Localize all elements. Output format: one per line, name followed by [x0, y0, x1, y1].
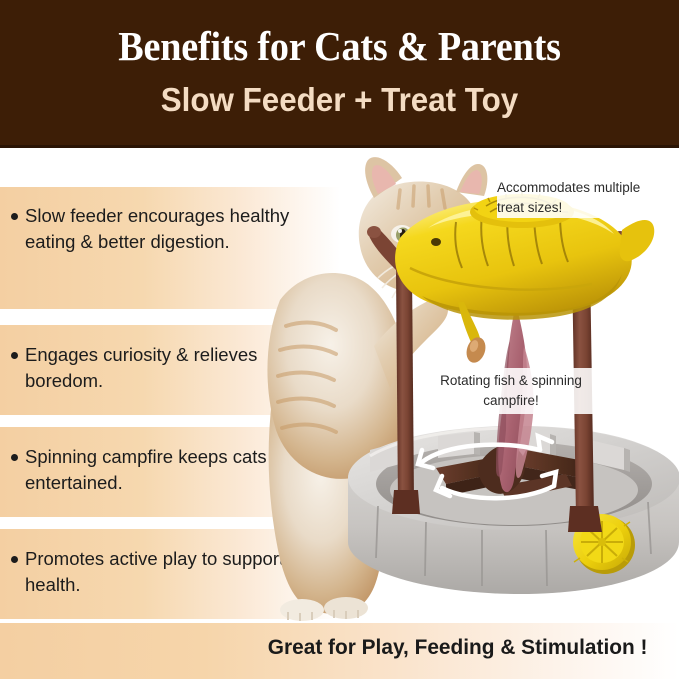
- infographic-root: Benefits for Cats & Parents Slow Feeder …: [0, 0, 679, 679]
- bullet-marker: [11, 352, 18, 359]
- page-title: Benefits for Cats & Parents: [24, 22, 655, 70]
- bullet-marker: [11, 556, 18, 563]
- header-banner: Benefits for Cats & Parents Slow Feeder …: [0, 0, 679, 148]
- bullet-marker: [11, 454, 18, 461]
- page-subtitle: Slow Feeder + Treat Toy: [17, 80, 662, 120]
- footer-banner: Great for Play, Feeding & Stimulation !: [0, 623, 679, 679]
- callout-rotating-fish: Rotating fish & spinning campfire!: [423, 368, 599, 414]
- bullet-marker: [11, 213, 18, 220]
- footer-tagline: Great for Play, Feeding & Stimulation !: [10, 635, 669, 660]
- callout-treat-sizes: Accommodates multiple treat sizes!: [497, 178, 669, 218]
